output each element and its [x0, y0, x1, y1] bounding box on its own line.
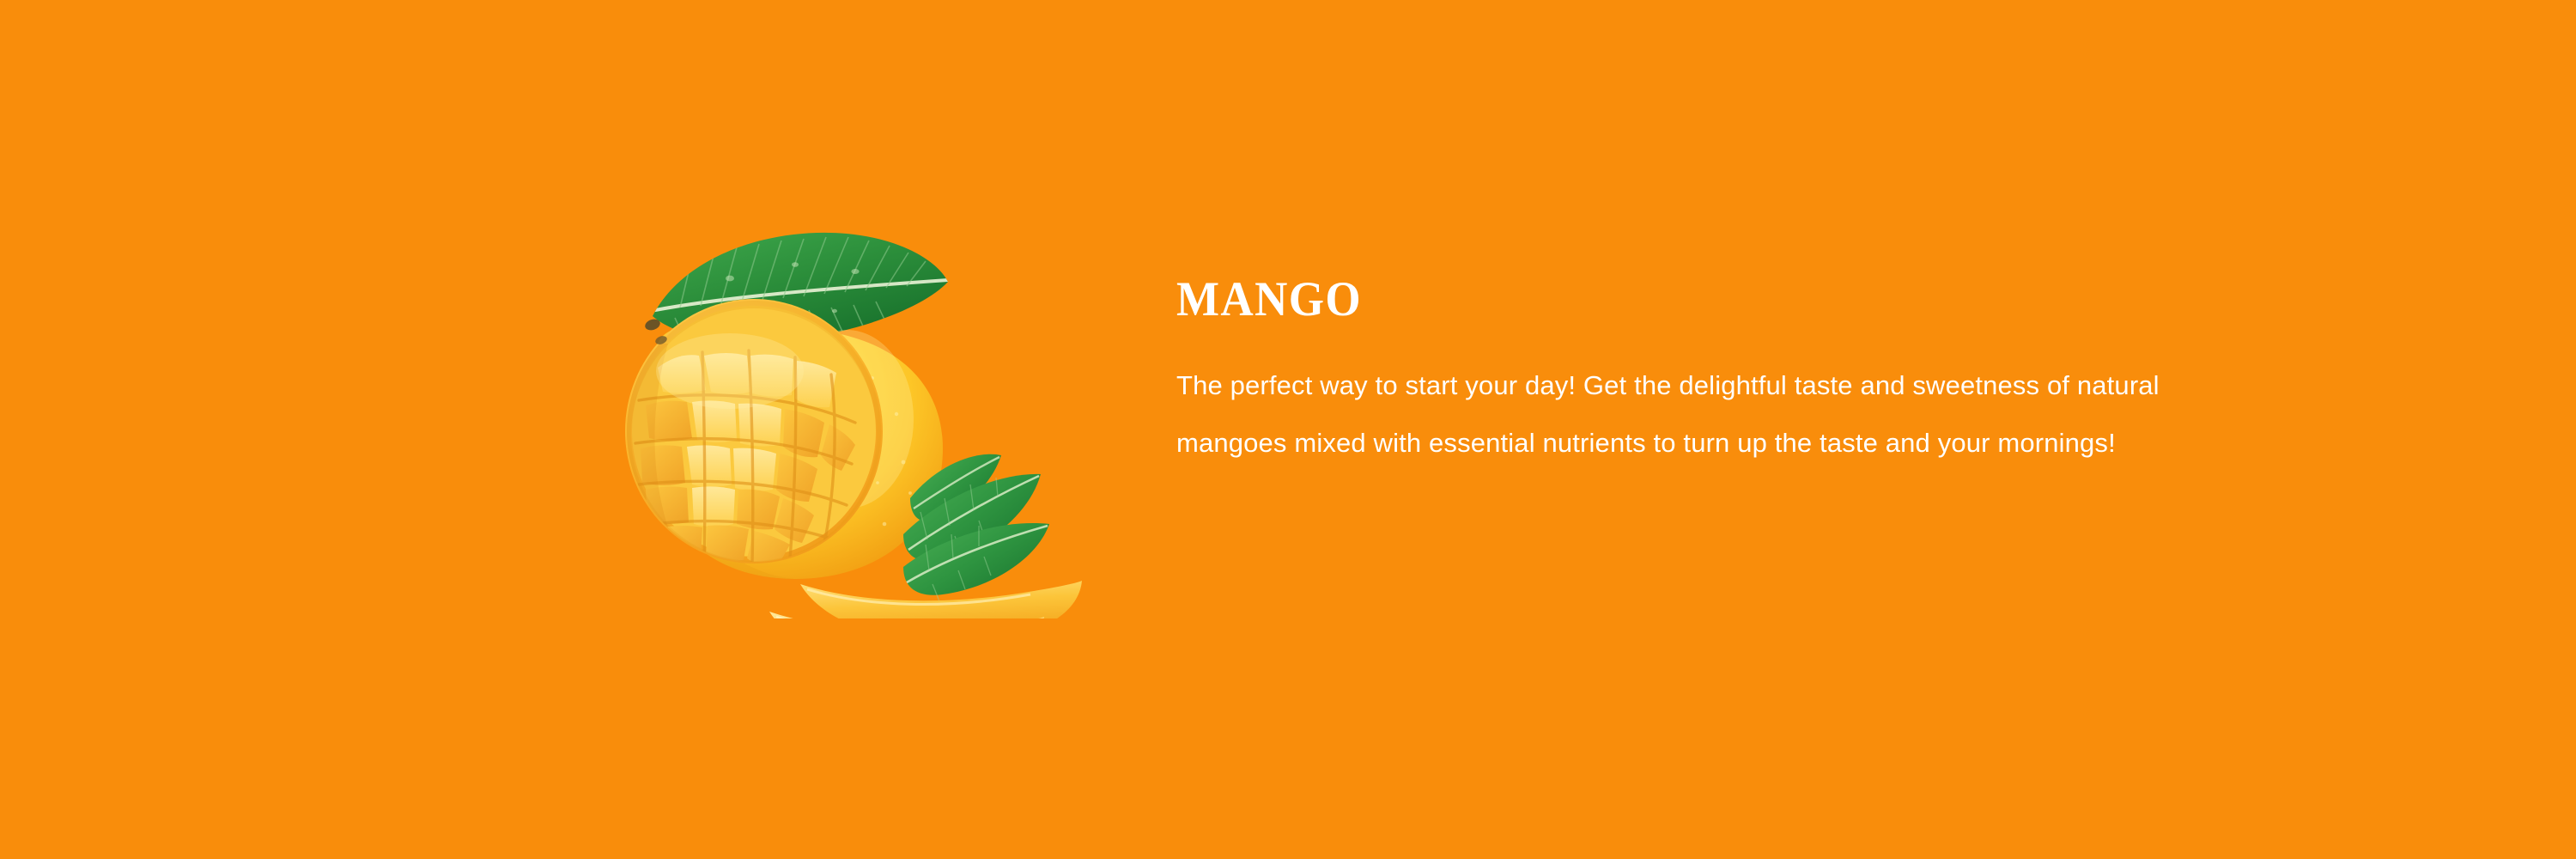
- product-copy-block: MANGO The perfect way to start your day!…: [1176, 275, 2233, 472]
- product-description: The perfect way to start your day! Get t…: [1176, 356, 2233, 472]
- mango-product-banner: MANGO The perfect way to start your day!…: [0, 0, 2576, 859]
- page-title: MANGO: [1176, 275, 2159, 325]
- mango-product-image: [601, 215, 1099, 618]
